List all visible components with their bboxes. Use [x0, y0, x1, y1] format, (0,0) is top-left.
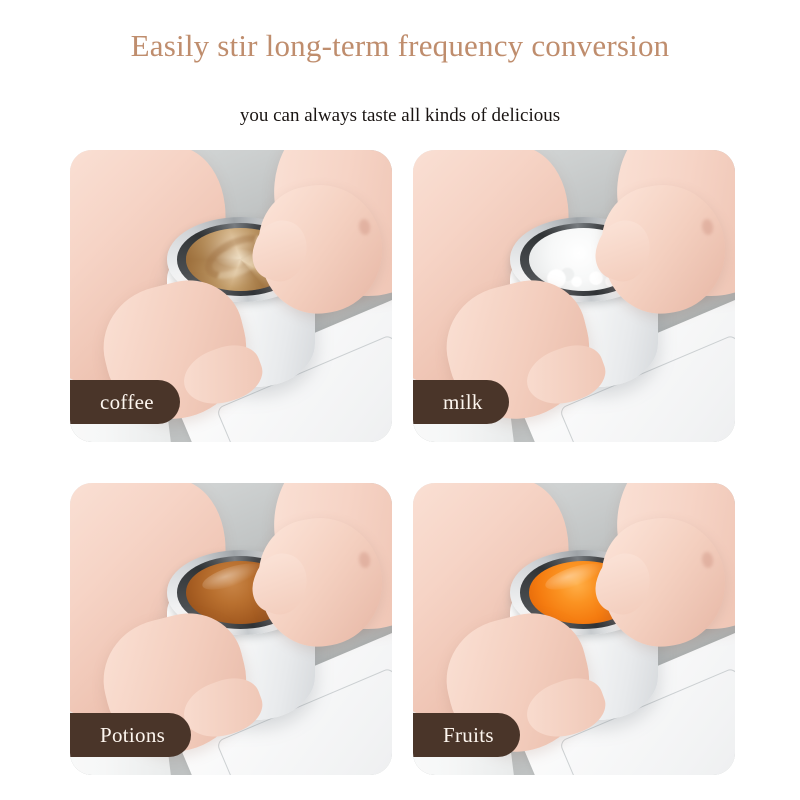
- knuckle-shadow: [357, 551, 370, 568]
- knuckle-shadow: [700, 551, 713, 568]
- knuckle-shadow: [357, 218, 370, 235]
- gallery-panel-milk[interactable]: milk: [413, 150, 735, 442]
- panel-caption-potions: Potions: [70, 713, 191, 757]
- gallery-panel-potions[interactable]: Potions: [70, 483, 392, 775]
- photo-gallery: coffee: [70, 150, 735, 775]
- gallery-panel-coffee[interactable]: coffee: [70, 150, 392, 442]
- knuckle-shadow: [700, 218, 713, 235]
- page-title: Easily stir long-term frequency conversi…: [0, 28, 800, 64]
- panel-caption-milk: milk: [413, 380, 509, 424]
- panel-caption-fruits: Fruits: [413, 713, 520, 757]
- product-feature-page: Easily stir long-term frequency conversi…: [0, 0, 800, 800]
- page-subtitle: you can always taste all kinds of delici…: [0, 105, 800, 127]
- panel-caption-coffee: coffee: [70, 380, 180, 424]
- gallery-panel-fruits[interactable]: Fruits: [413, 483, 735, 775]
